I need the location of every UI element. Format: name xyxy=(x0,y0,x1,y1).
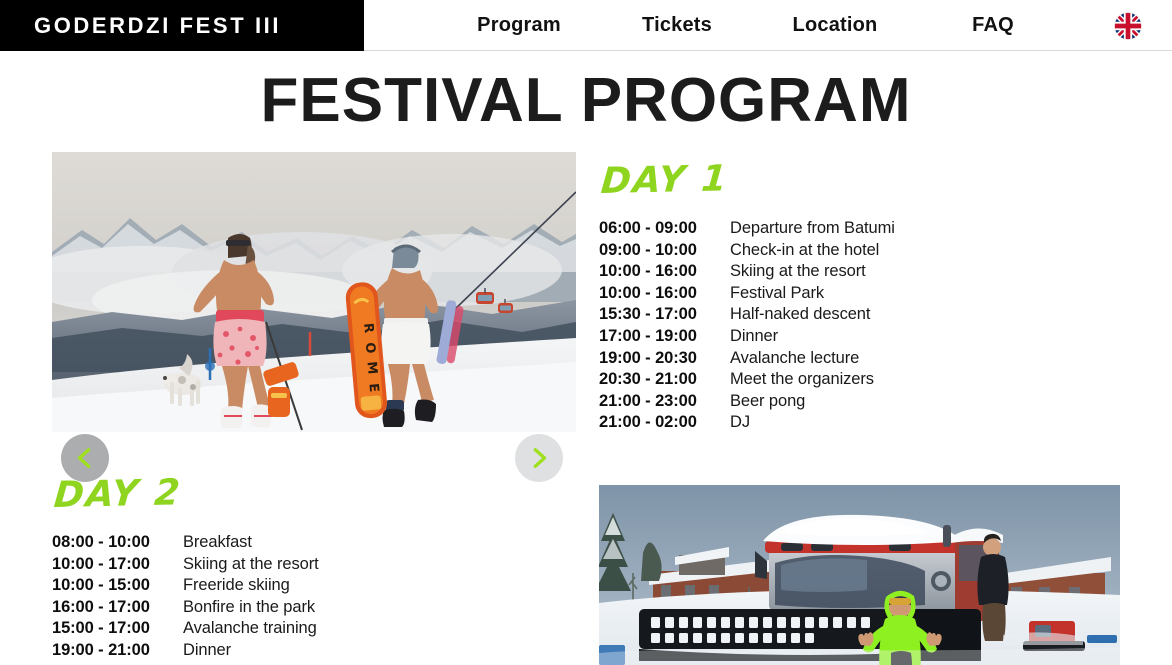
day1-section: R O M E xyxy=(0,152,1172,452)
schedule-time: 10:00 - 16:00 xyxy=(599,261,730,283)
nav-slot-faq: FAQ xyxy=(914,14,1072,37)
schedule-time: 10:00 - 16:00 xyxy=(599,283,730,305)
schedule-time: 06:00 - 09:00 xyxy=(599,218,730,240)
schedule-time: 21:00 - 02:00 xyxy=(599,412,730,434)
schedule-row: 19:00 - 20:30 Avalanche lecture xyxy=(599,348,1019,370)
svg-text:R: R xyxy=(360,322,376,333)
schedule-row: 21:00 - 02:00 DJ xyxy=(599,412,1019,434)
day1-heading: Day 1 xyxy=(599,161,730,200)
day2-carousel-image xyxy=(599,485,1120,665)
uk-flag-icon xyxy=(1114,12,1142,40)
schedule-row: 15:30 - 17:00 Half-naked descent xyxy=(599,304,1019,326)
schedule-label: Avalanche training xyxy=(183,618,317,640)
chevron-right-icon xyxy=(528,445,550,471)
schedule-row: 19:00 - 21:00 Dinner xyxy=(52,640,472,662)
schedule-label: Bonfire in the park xyxy=(183,597,315,619)
schedule-time: 17:00 - 19:00 xyxy=(599,326,730,348)
schedule-label: Skiing at the resort xyxy=(730,261,866,283)
day2-schedule-list: 08:00 - 10:00 Breakfast 10:00 - 17:00 Sk… xyxy=(52,532,472,662)
schedule-label: DJ xyxy=(730,412,750,434)
schedule-label: Festival Park xyxy=(730,283,824,305)
day2-schedule: Day 2 08:00 - 10:00 Breakfast 10:00 - 17… xyxy=(52,474,472,662)
nav-item-faq[interactable]: FAQ xyxy=(972,14,1014,37)
nav-slot-location: Location xyxy=(756,14,914,37)
day2-heading: Day 2 xyxy=(52,475,183,514)
schedule-time: 19:00 - 21:00 xyxy=(52,640,183,662)
schedule-label: Breakfast xyxy=(183,532,252,554)
schedule-row: 17:00 - 19:00 Dinner xyxy=(599,326,1019,348)
schedule-row: 20:30 - 21:00 Meet the organizers xyxy=(599,369,1019,391)
svg-text:E: E xyxy=(365,383,381,393)
schedule-label: Beer pong xyxy=(730,391,805,413)
nav-item-program[interactable]: Program xyxy=(477,14,561,37)
schedule-time: 09:00 - 10:00 xyxy=(599,240,730,262)
schedule-label: Check-in at the hotel xyxy=(730,240,879,262)
schedule-row: 06:00 - 09:00 Departure from Batumi xyxy=(599,218,1019,240)
day1-schedule-list: 06:00 - 09:00 Departure from Batumi 09:0… xyxy=(599,218,1019,434)
day1-carousel-image: R O M E xyxy=(52,152,576,432)
schedule-time: 15:00 - 17:00 xyxy=(52,618,183,640)
schedule-label: Meet the organizers xyxy=(730,369,874,391)
nav-item-location[interactable]: Location xyxy=(793,14,878,37)
schedule-row: 09:00 - 10:00 Check-in at the hotel xyxy=(599,240,1019,262)
nav-slot-tickets: Tickets xyxy=(598,14,756,37)
schedule-time: 16:00 - 17:00 xyxy=(52,597,183,619)
schedule-row: 10:00 - 16:00 Festival Park xyxy=(599,283,1019,305)
schedule-row: 21:00 - 23:00 Beer pong xyxy=(599,391,1019,413)
schedule-label: Avalanche lecture xyxy=(730,348,859,370)
svg-text:M: M xyxy=(363,361,379,375)
schedule-label: Half-naked descent xyxy=(730,304,870,326)
schedule-label: Dinner xyxy=(730,326,778,348)
main-navigation: Program Tickets Location FAQ xyxy=(364,0,1172,50)
schedule-row: 15:00 - 17:00 Avalanche training xyxy=(52,618,472,640)
site-header: GODERDZI FEST III Program Tickets Locati… xyxy=(0,0,1172,51)
schedule-time: 15:30 - 17:00 xyxy=(599,304,730,326)
logo-text: GODERDZI FEST III xyxy=(34,13,281,39)
schedule-row: 16:00 - 17:00 Bonfire in the park xyxy=(52,597,472,619)
schedule-label: Departure from Batumi xyxy=(730,218,895,240)
schedule-row: 10:00 - 15:00 Freeride skiing xyxy=(52,575,472,597)
schedule-row: 10:00 - 17:00 Skiing at the resort xyxy=(52,554,472,576)
schedule-label: Freeride skiing xyxy=(183,575,290,597)
day2-section: Day 2 08:00 - 10:00 Breakfast 10:00 - 17… xyxy=(0,474,1172,664)
schedule-time: 20:30 - 21:00 xyxy=(599,369,730,391)
day1-schedule: Day 1 06:00 - 09:00 Departure from Batum… xyxy=(599,152,1019,434)
nav-item-tickets[interactable]: Tickets xyxy=(642,14,712,37)
schedule-label: Dinner xyxy=(183,640,231,662)
schedule-time: 19:00 - 20:30 xyxy=(599,348,730,370)
logo-block[interactable]: GODERDZI FEST III xyxy=(0,0,364,51)
page-title: FESTIVAL PROGRAM xyxy=(0,68,1172,133)
schedule-time: 08:00 - 10:00 xyxy=(52,532,183,554)
svg-text:O: O xyxy=(362,342,378,354)
schedule-time: 21:00 - 23:00 xyxy=(599,391,730,413)
nav-slot-program: Program xyxy=(440,14,598,37)
schedule-label: Skiing at the resort xyxy=(183,554,319,576)
schedule-time: 10:00 - 17:00 xyxy=(52,554,183,576)
schedule-time: 10:00 - 15:00 xyxy=(52,575,183,597)
chevron-left-icon xyxy=(74,445,96,471)
schedule-row: 08:00 - 10:00 Breakfast xyxy=(52,532,472,554)
language-switcher[interactable] xyxy=(1114,0,1142,51)
schedule-row: 10:00 - 16:00 Skiing at the resort xyxy=(599,261,1019,283)
